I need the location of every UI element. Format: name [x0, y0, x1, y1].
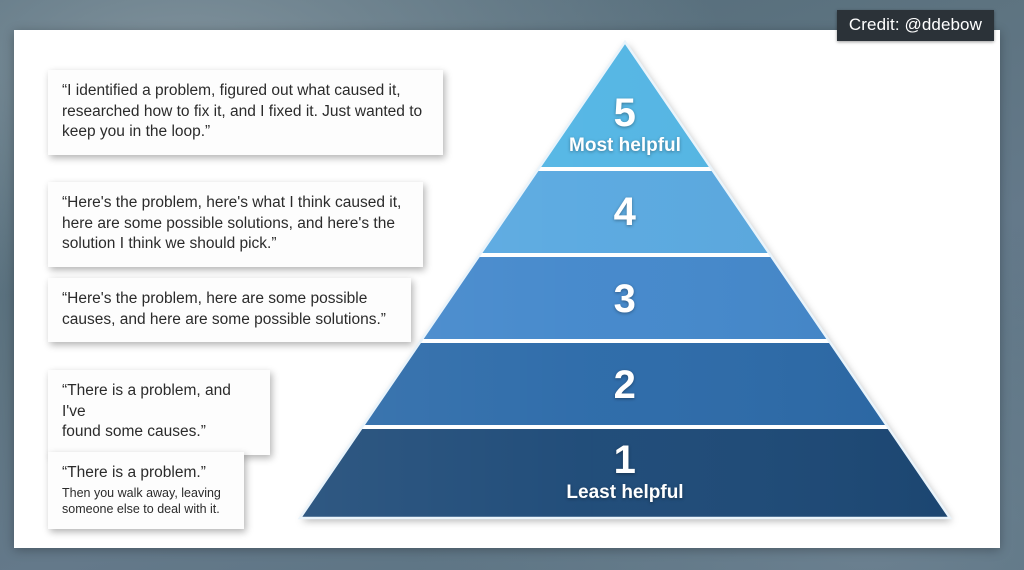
callout-level-4: “Here's the problem, here's what I think…: [48, 182, 423, 267]
callout-note-1: Then you walk away, leaving someone else…: [62, 485, 230, 518]
credit-badge: Credit: @ddebow: [837, 10, 994, 41]
callout-level-1: “There is a problem.” Then you walk away…: [48, 452, 244, 529]
callout-quote-2: “There is a problem, and I've found some…: [62, 381, 256, 443]
slide-stage: 5 Most helpful 4 3 2 1 Least helpful “I …: [0, 0, 1024, 570]
callout-quote-1: “There is a problem.”: [62, 463, 230, 484]
callout-level-2: “There is a problem, and I've found some…: [48, 370, 270, 455]
callout-quote-4: “Here's the problem, here's what I think…: [62, 193, 409, 255]
callout-quote-3: “Here's the problem, here are some possi…: [62, 289, 397, 330]
callout-quote-5: “I identified a problem, figured out wha…: [62, 81, 429, 143]
callout-level-5: “I identified a problem, figured out wha…: [48, 70, 443, 155]
callout-level-3: “Here's the problem, here are some possi…: [48, 278, 411, 342]
